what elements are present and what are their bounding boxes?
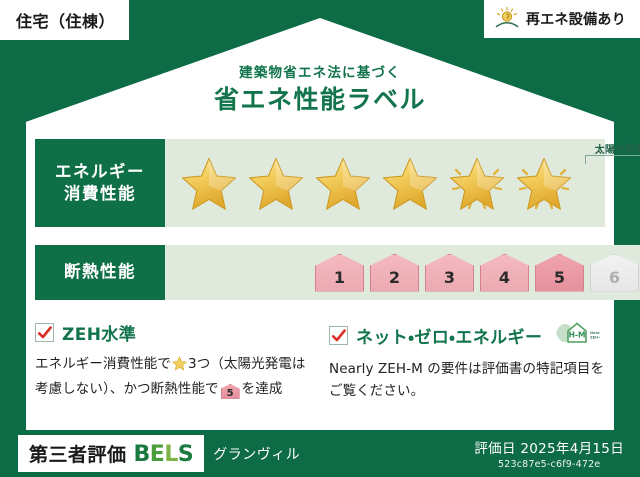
zeh-standard-head: ZEH水準 (35, 320, 311, 345)
star-icon (246, 153, 306, 213)
bels-letter-s: S (178, 442, 193, 467)
renewable-equipment-chip: 再エネ設備あり (484, 0, 640, 38)
energy-performance-label: 住宅（住棟） 再エネ設備あり 建築物省エネ法に基づく 省エネ性能ラベル いえ不動… (0, 0, 640, 477)
star-icon (380, 153, 440, 213)
energy-performance-row: エネルギー 消費性能 太陽光発電(自家消費)分 (35, 139, 605, 227)
net-zero-energy-checkbox[interactable] (329, 326, 348, 345)
net-zero-energy-head: ネット・ゼロ・エネルギー H-M Nearly ZEH-M (329, 320, 605, 350)
insulation-level-badge: 1 (315, 254, 364, 292)
net-zero-energy-panel: ネット・ゼロ・エネルギー H-M Nearly ZEH-M Nearly ZEH… (329, 320, 605, 412)
nearly-zeh-m-logo: H-M Nearly ZEH-M (550, 320, 600, 350)
insulation-level-badge: 6 (590, 254, 639, 292)
house-type-chip: 住宅（住棟） (0, 0, 129, 40)
label-subtitle: 建築物省エネ法に基づく (0, 61, 640, 81)
star-icon (179, 153, 239, 213)
label-footer: 第三者評価 BELS グランヴィル 評価日 2025年4月15日 523c87e… (0, 430, 640, 477)
evaluation-date: 評価日 2025年4月15日 (474, 437, 624, 457)
star-icon (447, 153, 507, 213)
evaluation-id: 523c87e5-c6f9-472e (474, 459, 624, 470)
renewable-chip-label: 再エネ設備あり (526, 9, 626, 29)
insulation-performance-row: 断熱性能 1234567 (35, 245, 605, 300)
energy-label-line2: 消費性能 (64, 183, 136, 205)
bels-letter-b: B (134, 442, 150, 467)
net-zero-energy-title: ネット・ゼロ・エネルギー (356, 323, 542, 348)
bels-chip: 第三者評価 BELS (18, 435, 204, 472)
insulation-level-track: 1234567 (165, 245, 640, 300)
net-zero-energy-body: Nearly ZEH-M の要件は評価書の特記項目をご覧ください。 (329, 359, 605, 403)
svg-text:H-M: H-M (569, 331, 586, 340)
insulation-level-badge: 2 (370, 254, 419, 292)
insulation-label-text: 断熱性能 (64, 261, 136, 283)
zeh-standard-checkbox[interactable] (35, 323, 54, 342)
label-title: 省エネ性能ラベル (0, 80, 640, 116)
insulation-level-badge: 5 (535, 254, 584, 292)
insulation-level-badges: 1234567 (165, 254, 640, 292)
bels-jp-label: 第三者評価 (29, 440, 127, 467)
star-icon (514, 153, 574, 213)
solar-self-consumption-note: 太陽光発電(自家消費)分 (583, 141, 640, 156)
energy-label-line1: エネルギー (55, 161, 145, 183)
bels-en-label: BELS (134, 442, 194, 467)
zeh-body-part1: エネルギー消費性能で (35, 356, 171, 372)
insulation-badge-inline: 5 (221, 384, 240, 399)
sun-icon (494, 6, 520, 32)
evaluation-info: 評価日 2025年4月15日 523c87e5-c6f9-472e (474, 437, 624, 470)
insulation-level-badge: 4 (480, 254, 529, 292)
zeh-standard-panel: ZEH水準 エネルギー消費性能で3つ（太陽光発電は考慮しない）、かつ断熱性能で5… (35, 320, 311, 412)
criteria-panels: ZEH水準 エネルギー消費性能で3つ（太陽光発電は考慮しない）、かつ断熱性能で5… (35, 320, 605, 412)
solar-bracket (585, 155, 640, 164)
check-icon (37, 325, 53, 341)
bels-letter-e: E (150, 442, 165, 467)
star-icon (313, 153, 373, 213)
star-rating (165, 153, 574, 213)
zeh-standard-title: ZEH水準 (62, 320, 136, 345)
bels-letter-l: L (164, 442, 178, 467)
svg-text:Nearly: Nearly (590, 331, 600, 335)
owner-name: グランヴィル (213, 444, 300, 464)
check-icon (331, 328, 347, 344)
energy-performance-label: エネルギー 消費性能 (35, 139, 165, 227)
zeh-standard-body: エネルギー消費性能で3つ（太陽光発電は考慮しない）、かつ断熱性能で5を達成 (35, 354, 311, 401)
insulation-level-badge: 3 (425, 254, 474, 292)
star-icon (172, 359, 187, 375)
svg-text:ZEH-M: ZEH-M (590, 335, 600, 339)
energy-star-track: 太陽光発電(自家消費)分 (165, 139, 605, 227)
house-type-chip-label: 住宅（住棟） (16, 12, 115, 31)
zeh-body-part3: を達成 (242, 381, 283, 397)
insulation-performance-label: 断熱性能 (35, 245, 165, 300)
